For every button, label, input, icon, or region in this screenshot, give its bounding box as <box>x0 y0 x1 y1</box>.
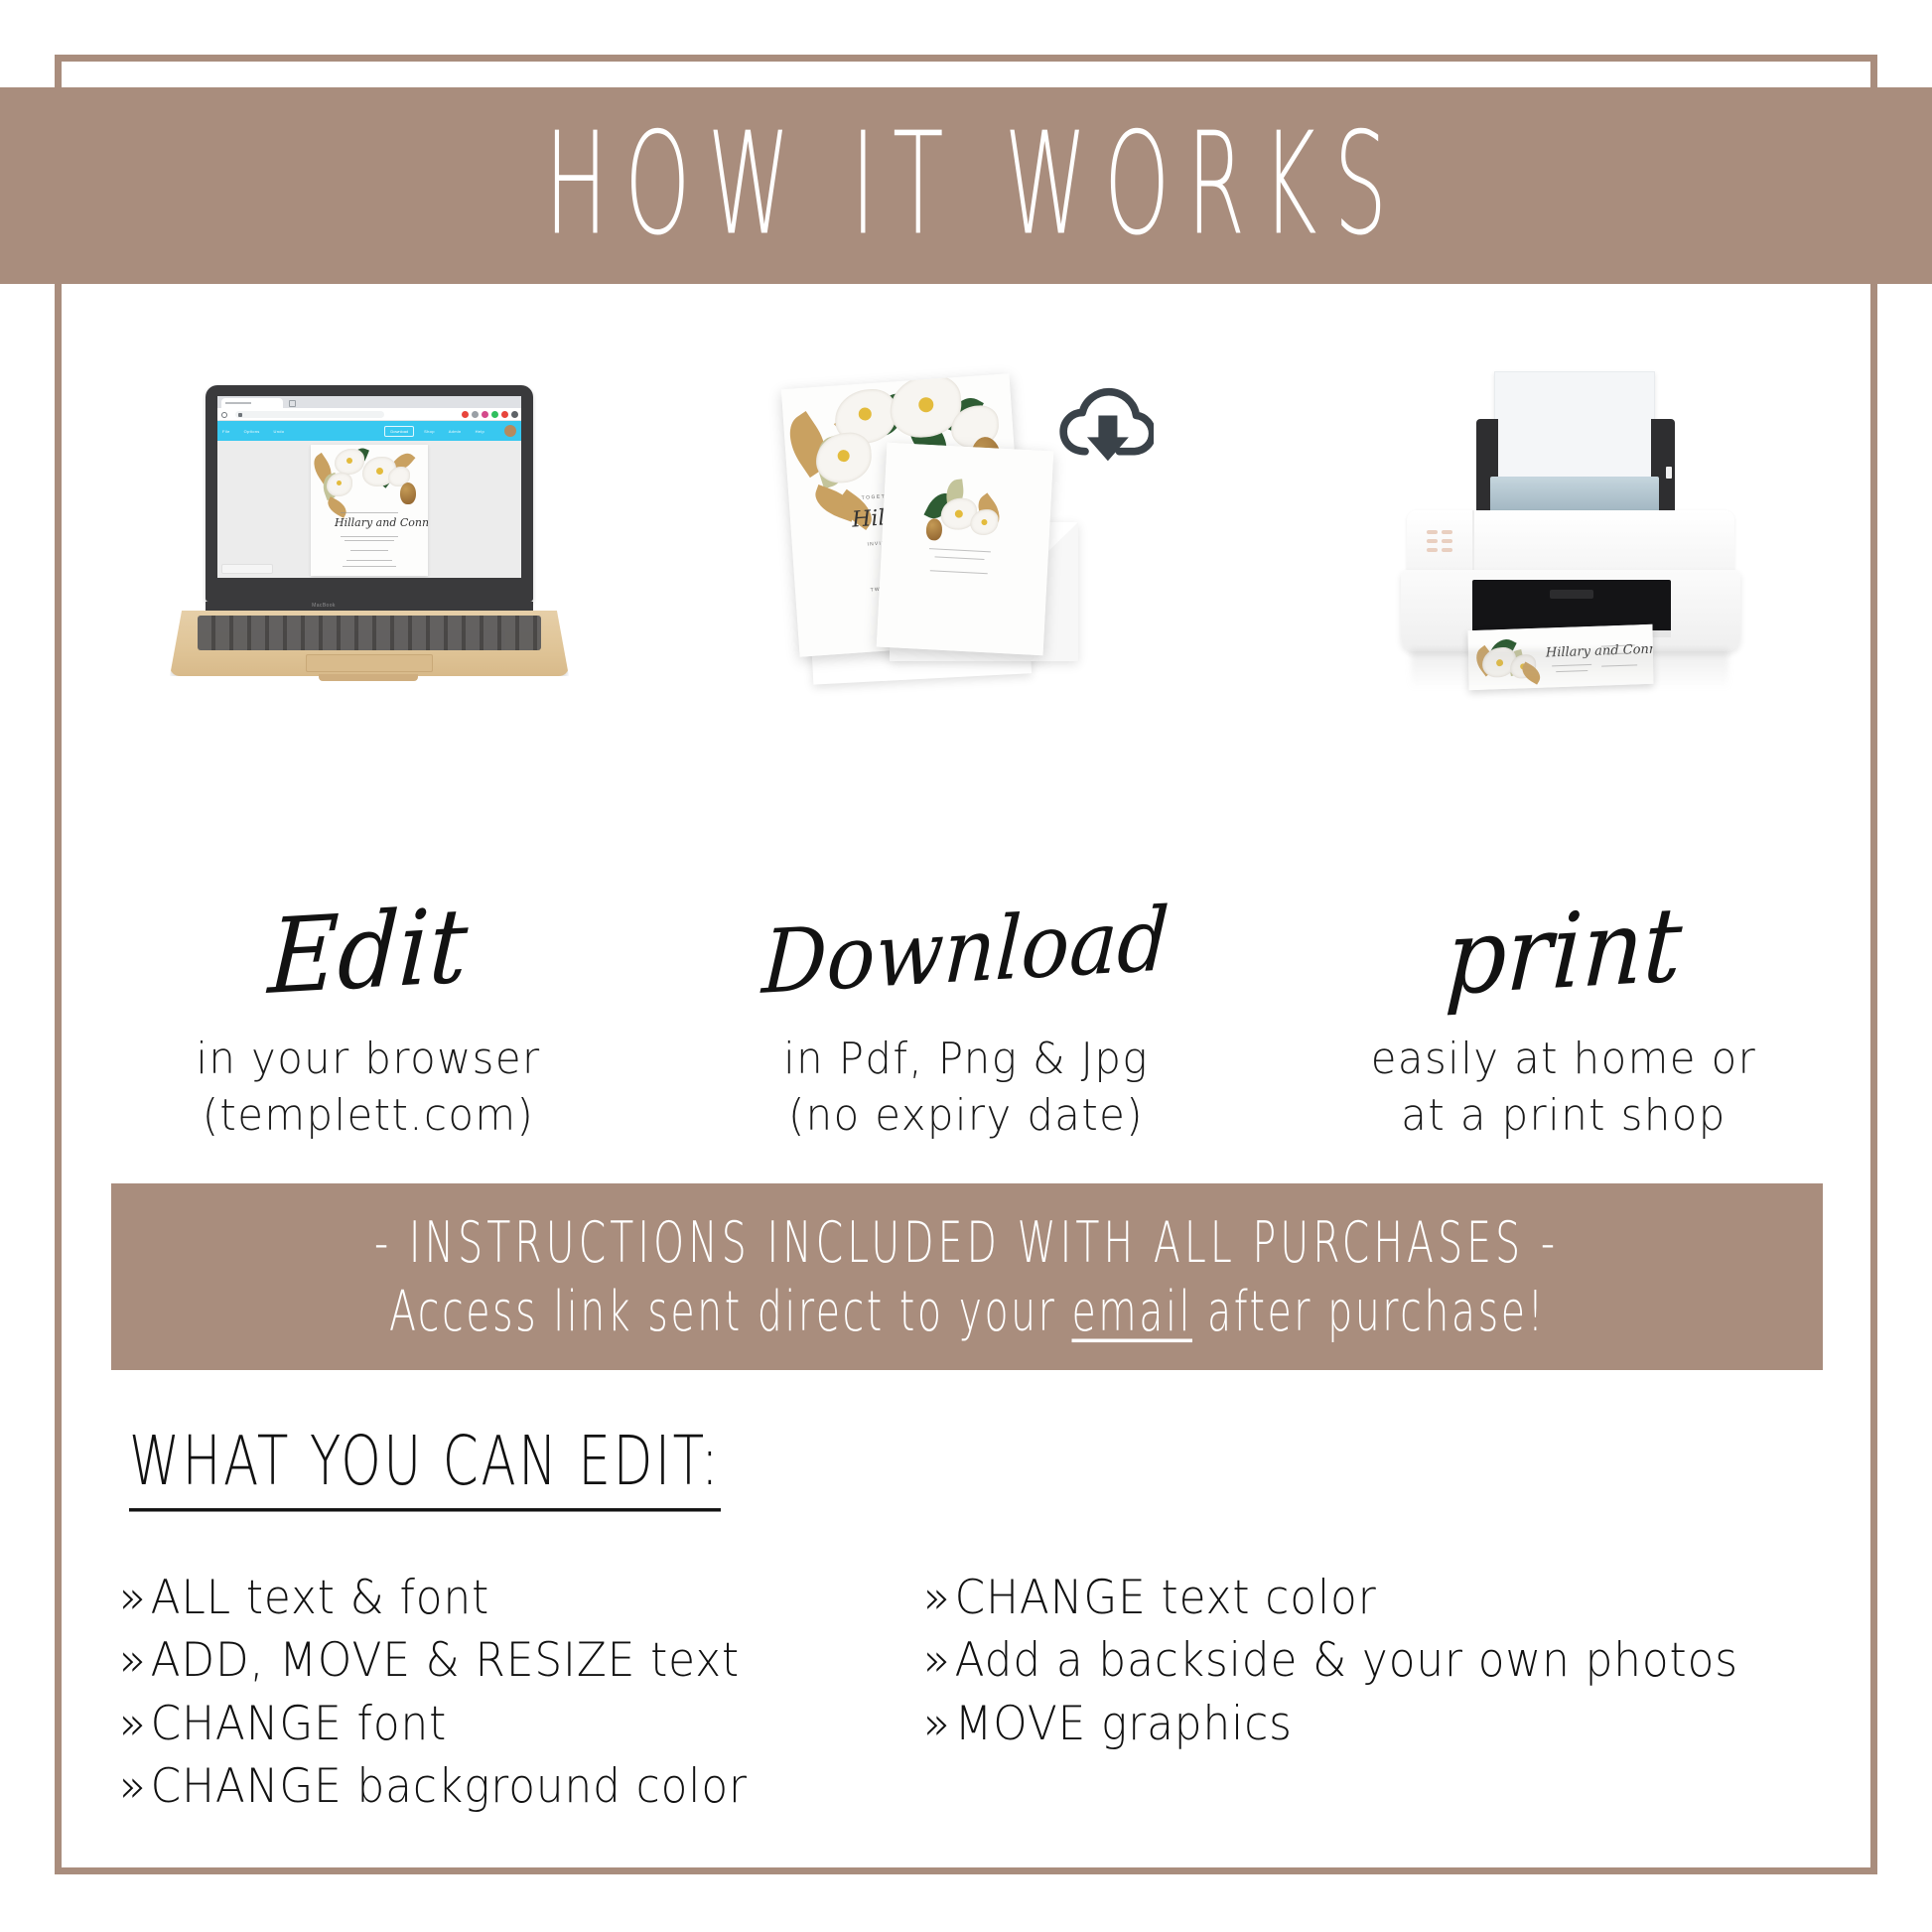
script-label-edit: Edit <box>267 894 471 1009</box>
step-captions-row: in your browser (templett.com) in Pdf, P… <box>69 1031 1863 1160</box>
url-field[interactable] <box>235 411 384 418</box>
caption-edit-line2: (templett.com) <box>84 1087 652 1144</box>
list-item: »ALL text & font <box>119 1567 858 1629</box>
laptop-illustration: File Options Undo Download Shop Admin He… <box>160 385 577 693</box>
script-cell-download: Download <box>667 879 1265 1023</box>
script-cell-edit: Edit <box>69 879 667 1023</box>
steps-artwork-row: File Options Undo Download Shop Admin He… <box>69 367 1863 894</box>
what-you-can-edit-title: WHAT YOU CAN EDIT: <box>129 1422 721 1511</box>
printer-scanner-lid <box>1407 510 1734 578</box>
instructions-headline: - INSTRUCTIONS INCLUDED WITH ALL PURCHAS… <box>374 1209 1559 1275</box>
page-title: HOW IT WORKS <box>528 115 1405 257</box>
list-item: »CHANGE background color <box>119 1755 858 1818</box>
caption-cell-print: easily at home or at a print shop <box>1265 1031 1863 1160</box>
list-item: »MOVE graphics <box>923 1693 1791 1755</box>
browser-address-bar[interactable] <box>217 408 521 421</box>
bullet-glyph: » <box>119 1629 151 1692</box>
script-label-print: print <box>1444 893 1684 1010</box>
script-label-download: Download <box>760 896 1172 1007</box>
instructions-subline-before: Access link sent direct to your <box>389 1279 1072 1344</box>
list-item: »Add a backside & your own photos <box>923 1629 1791 1692</box>
step-download-artwork: TOGETHER WITH THEIR FAMILIES Hillary and… <box>667 367 1265 894</box>
how-it-works-infographic: HOW IT WORKS <box>0 0 1932 1932</box>
cloud-download-icon <box>1058 385 1154 465</box>
extension-icon-red[interactable] <box>462 411 469 418</box>
printer-control-panel[interactable] <box>1427 530 1454 556</box>
extension-icon-green[interactable] <box>491 411 498 418</box>
bullet-glyph: » <box>923 1629 955 1692</box>
invitation-art: Hillary and Connor <box>311 445 428 576</box>
bullet-glyph: » <box>119 1755 151 1818</box>
list-item: »CHANGE text color <box>923 1567 1791 1629</box>
avatar[interactable] <box>504 425 516 437</box>
laptop-lid: File Options Undo Download Shop Admin He… <box>206 385 533 602</box>
design-canvas[interactable]: Hillary and Connor <box>217 441 521 578</box>
invitation-suite-illustration: TOGETHER WITH THEIR FAMILIES Hillary and… <box>772 373 1160 701</box>
list-item-label: Add a backside & your own photos <box>955 1633 1738 1688</box>
download-button[interactable]: Download <box>384 426 414 437</box>
list-item-label: MOVE graphics <box>955 1697 1293 1751</box>
header-banner: HOW IT WORKS <box>0 87 1932 284</box>
list-item-label: ADD, MOVE & RESIZE text <box>151 1633 740 1688</box>
bullet-glyph: » <box>119 1693 151 1755</box>
laptop-front-lip <box>319 674 419 681</box>
printer-paper-tray <box>1490 477 1659 514</box>
zoom-control[interactable] <box>221 564 273 574</box>
list-item-label: CHANGE font <box>151 1697 448 1751</box>
printer-surface-reflection <box>1411 649 1728 689</box>
bullet-glyph: » <box>923 1693 955 1755</box>
extension-icon-grey[interactable] <box>472 411 479 418</box>
toolbar-help-link[interactable]: Help <box>476 429 484 434</box>
laptop-screen: File Options Undo Download Shop Admin He… <box>217 396 521 578</box>
caption-print-line1: easily at home or <box>1280 1031 1848 1087</box>
caption-download-line2: (no expiry date) <box>682 1087 1250 1144</box>
list-item: »CHANGE font <box>119 1693 858 1755</box>
script-labels-row: Edit Download print <box>69 879 1863 1023</box>
bullet-glyph: » <box>119 1567 151 1629</box>
caption-cell-download: in Pdf, Png & Jpg (no expiry date) <box>667 1031 1265 1160</box>
app-toolbar: File Options Undo Download Shop Admin He… <box>217 421 521 441</box>
browser-tab[interactable] <box>221 398 283 408</box>
edit-list-left: »ALL text & font »ADD, MOVE & RESIZE tex… <box>119 1567 913 1819</box>
invitation-preview[interactable]: Hillary and Connor <box>311 445 428 576</box>
step-print-artwork: Hillary and Connor <box>1265 367 1863 894</box>
step-edit-artwork: File Options Undo Download Shop Admin He… <box>69 367 667 894</box>
laptop-brand-label: MacBook <box>160 603 487 609</box>
edit-list-right: »CHANGE text color »Add a backside & you… <box>923 1567 1857 1819</box>
toolbar-undo-menu[interactable]: Undo <box>274 429 285 434</box>
instructions-banner: - INSTRUCTIONS INCLUDED WITH ALL PURCHAS… <box>111 1183 1823 1370</box>
browser-tab-bar <box>217 396 521 408</box>
back-arrow-icon[interactable] <box>221 412 227 418</box>
toolbar-admin-menu[interactable]: Admin <box>449 429 462 434</box>
printer-lid-seam <box>1472 510 1474 578</box>
browser-menu-icon[interactable] <box>511 411 518 418</box>
instructions-subline: Access link sent direct to your email af… <box>389 1279 1546 1344</box>
toolbar-file-menu[interactable]: File <box>222 429 230 434</box>
invitation-art-second <box>877 443 1054 656</box>
list-item-label: ALL text & font <box>151 1571 490 1625</box>
list-item-label: CHANGE text color <box>955 1571 1377 1625</box>
bullet-glyph: » <box>923 1567 955 1629</box>
caption-download-line1: in Pdf, Png & Jpg <box>682 1031 1250 1087</box>
list-item-label: CHANGE background color <box>151 1759 748 1814</box>
what-you-can-edit-columns: »ALL text & font »ADD, MOVE & RESIZE tex… <box>119 1567 1866 1819</box>
email-link[interactable]: email <box>1071 1279 1191 1344</box>
caption-edit-line1: in your browser <box>84 1031 652 1087</box>
script-cell-print: print <box>1265 879 1863 1023</box>
toolbar-options-menu[interactable]: Options <box>244 429 260 434</box>
invitation-card-second <box>877 443 1054 656</box>
instructions-subline-after: after purchase! <box>1192 1279 1546 1344</box>
toolbar-shop-link[interactable]: Shop <box>424 429 435 434</box>
caption-print-line2: at a print shop <box>1280 1087 1848 1144</box>
printer-illustration: Hillary and Connor <box>1365 371 1762 709</box>
caption-cell-edit: in your browser (templett.com) <box>69 1031 667 1160</box>
extension-icon-red-2[interactable] <box>501 411 508 418</box>
new-tab-icon[interactable] <box>289 400 296 407</box>
browser-extension-icons <box>462 411 518 418</box>
list-item: »ADD, MOVE & RESIZE text <box>119 1629 858 1692</box>
laptop-trackpad <box>306 654 434 672</box>
extension-icon-pink[interactable] <box>482 411 488 418</box>
laptop-keys <box>198 616 541 649</box>
laptop-keyboard-deck <box>170 611 569 676</box>
